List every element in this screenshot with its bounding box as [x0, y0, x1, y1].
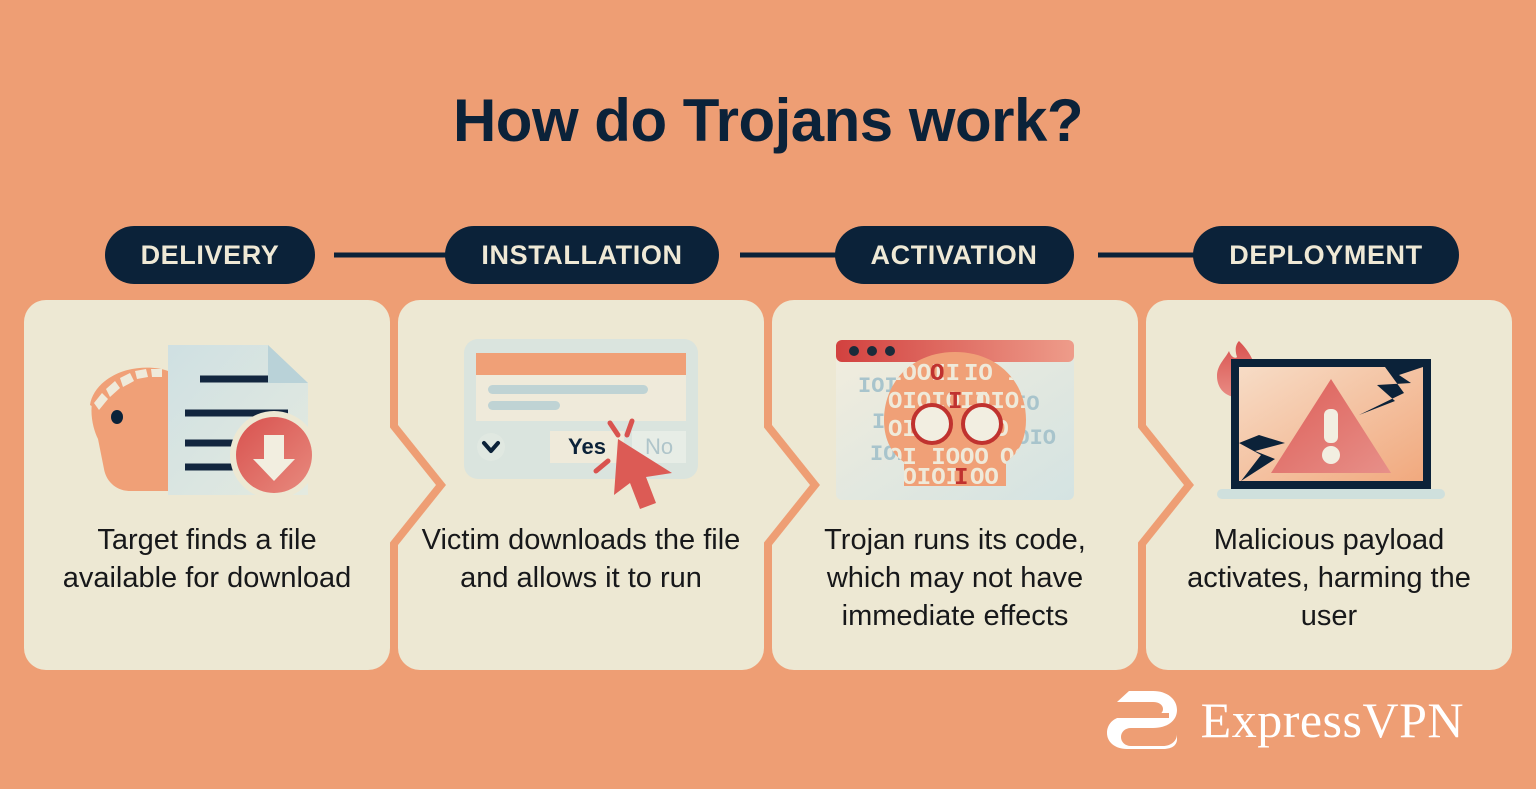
laptop-base [1217, 489, 1445, 499]
stage-pill-deployment: DEPLOYMENT [1193, 226, 1459, 284]
stage-caption-activation: Trojan runs its code, which may not have… [772, 522, 1138, 636]
download-badge [230, 411, 318, 499]
stage-caption-delivery: Target finds a file available for downlo… [24, 522, 390, 598]
trojan-horse-head [90, 368, 168, 491]
install-dialog-icon: Yes No [450, 331, 712, 511]
stage-pill-row: DELIVERY INSTALLATION ACTIVATION DEPLOYM… [24, 226, 1512, 284]
stage-card-row: Target finds a file available for downlo… [24, 300, 1512, 670]
trojan-horse-document-icon [72, 331, 342, 511]
pill-cell-activation: ACTIVATION [768, 226, 1140, 284]
svg-text:O: O [930, 361, 944, 388]
window-dots [849, 346, 895, 356]
illustration-deployment [1146, 326, 1512, 516]
expressvpn-wordmark: ExpressVPN [1201, 691, 1464, 749]
svg-text:I: I [948, 389, 962, 416]
skull-eye-left [913, 405, 951, 443]
stage-card-delivery: Target finds a file available for downlo… [24, 300, 390, 670]
yes-label: Yes [568, 434, 606, 459]
pill-cell-deployment: DEPLOYMENT [1140, 226, 1512, 284]
no-label: No [645, 434, 673, 459]
cracked-laptop-icon [1199, 331, 1459, 511]
stage-card-deployment: Malicious payload activates, harming the… [1146, 300, 1512, 670]
horse-eye [111, 410, 123, 424]
skull-eye-right [963, 405, 1001, 443]
stage-card-activation: IOII IO IOIOI OIO IIOIO IOOII IO IO O OI… [772, 300, 1138, 670]
illustration-activation: IOII IO IOIOI OIO IIOIO IOOII IO IO O OI… [772, 326, 1138, 516]
stage-card-installation: Yes No Victim downloads the file and all… [398, 300, 764, 670]
pill-cell-installation: INSTALLATION [396, 226, 768, 284]
dialog-header-bar [476, 353, 686, 375]
yes-button: Yes [550, 431, 624, 463]
expressvpn-e-mark-icon [1107, 689, 1179, 751]
stage-caption-deployment: Malicious payload activates, harming the… [1146, 522, 1512, 636]
stage-pill-activation: ACTIVATION [835, 226, 1074, 284]
illustration-delivery [24, 326, 390, 516]
stage-caption-installation: Victim downloads the file and allows it … [398, 522, 764, 598]
page-title: How do Trojans work? [0, 86, 1536, 155]
expressvpn-logo: ExpressVPN [1107, 689, 1464, 751]
chevron-down-icon [477, 433, 505, 461]
stage-pill-installation: INSTALLATION [445, 226, 718, 284]
binary-skull-icon: IOII IO IOIOI OIO IIOIO IOOII IO IO O OI… [830, 336, 1080, 506]
stage-pill-delivery: DELIVERY [105, 226, 316, 284]
pill-cell-delivery: DELIVERY [24, 226, 396, 284]
illustration-installation: Yes No [398, 326, 764, 516]
